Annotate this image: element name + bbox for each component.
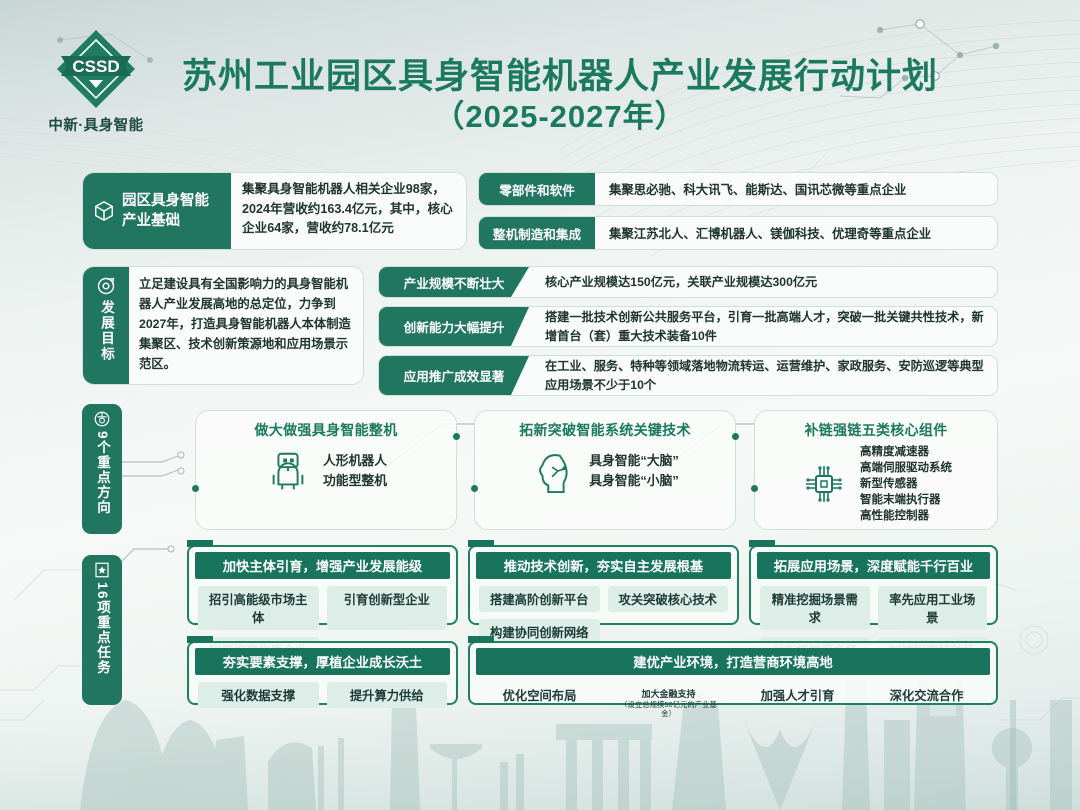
task-card-factors: 夯实要素支撑，厚植企业成长沃土 强化数据支撑 提升算力供给 — [187, 641, 458, 705]
task-chip[interactable]: 加大金融支持 （设立总规模50亿元的产业基金） — [608, 682, 729, 723]
goals-rows: 产业规模不断壮大 核心产业规模达150亿元，关联产业规模达300亿元 创新能力大… — [378, 266, 998, 404]
goal-row-application: 应用推广成效显著 在工业、服务、特种等领域落地物流转运、运营维护、家政服务、安防… — [378, 355, 998, 396]
goal-row-label: 产业规模不断壮大 — [379, 267, 529, 297]
connector-dot — [471, 485, 478, 492]
cube-icon — [93, 200, 115, 222]
goal-row-label: 创新能力大幅提升 — [379, 307, 529, 346]
connector-dot — [192, 485, 199, 492]
connector-dot — [751, 485, 758, 492]
industry-base-rows: 零部件和软件 集聚思必驰、科大讯飞、能斯达、国讯芯微等重点企业 整机制造和集成 … — [478, 172, 998, 260]
goals-summary-text: 立足建设具有全国影响力的具身智能机器人产业发展高地的总定位，力争到2027年，打… — [129, 267, 363, 384]
task-card-scenarios: 拓展应用场景，深度赋能千行百业 精准挖掘场景需求 率先应用工业场景 创新拓展服务… — [749, 545, 998, 625]
industry-row-value: 集聚思必驰、科大讯飞、能斯达、国讯芯微等重点企业 — [595, 173, 997, 205]
task-chip[interactable]: 加强人才引育 — [737, 682, 858, 723]
task-chip[interactable]: 强化数据支撑 — [198, 682, 319, 708]
task-chip[interactable]: 搭建高阶创新平台 — [479, 586, 600, 612]
direction-card-core-components: 补链强链五类核心组件 高精度减速器 高端伺服驱动系统 新型传感器 — [754, 410, 998, 530]
task-card-technology: 推动技术创新，夯实自主发展根基 搭建高阶创新平台 攻关突破核心技术 构建协同创新… — [468, 545, 739, 625]
logo-diamond-icon: CSSD — [53, 26, 139, 112]
goal-row-value: 核心产业规模达150亿元，关联产业规模达300亿元 — [529, 267, 997, 297]
page-header: CSSD 中新·具身智能 苏州工业园区具身智能机器人产业发展行动计划 （2025… — [0, 0, 1080, 160]
goals-badge: 发展目标 — [83, 267, 129, 384]
direction-card-title: 补链强链五类核心组件 — [755, 420, 997, 440]
goal-row-value: 在工业、服务、特种等领域落地物流转运、运营维护、家政服务、安防巡逻等典型应用场景… — [529, 356, 997, 395]
task-chip[interactable]: 招引高能级市场主体 — [198, 586, 319, 630]
connector-dot — [732, 433, 739, 440]
industry-row-value: 集聚江苏北人、汇博机器人、镁伽科技、优理奇等重点企业 — [595, 217, 997, 249]
task-card-title: 推动技术创新，夯实自主发展根基 — [476, 552, 731, 579]
section-sixteen-tasks: 16项重点任务 加快主体引育，增强产业发展能级 招引高能级市场主体 引育创新型企… — [82, 545, 998, 713]
robot-icon — [265, 448, 311, 494]
task-card-title: 拓展应用场景，深度赋能千行百业 — [757, 552, 990, 579]
direction-card-items: 人形机器人 功能型整机 — [323, 451, 387, 491]
goals-summary-card: 发展目标 立足建设具有全国影响力的具身智能机器人产业发展高地的总定位，力争到20… — [82, 266, 364, 385]
task-chip[interactable]: 精准挖掘场景需求 — [760, 586, 870, 630]
task-chip-label: 优化空间布局 — [503, 689, 577, 703]
task-card-environment: 建优产业环境，打造营商环境高地 优化空间布局 加大金融支持 （设立总规模50亿元… — [468, 641, 998, 705]
direction-card-items: 具身智能“大脑” 具身智能“小脑” — [589, 451, 679, 491]
direction-card-title: 做大做强具身智能整机 — [196, 420, 456, 440]
task-card-title: 加快主体引育，增强产业发展能级 — [195, 552, 450, 579]
task-chip[interactable]: 引育创新型企业 — [327, 586, 448, 630]
task-chip[interactable]: 提升算力供给 — [327, 682, 448, 708]
goal-row-value: 搭建一批技术创新公共服务平台，引育一批高端人才，突破一批关键共性技术，新增首台（… — [529, 307, 997, 346]
tasks-badge-label: 16项重点任务 — [92, 582, 112, 675]
title-block: 苏州工业园区具身智能机器人产业发展行动计划 （2025-2027年） — [160, 56, 960, 138]
industry-row-assembly: 整机制造和集成 集聚江苏北人、汇博机器人、镁伽科技、优理奇等重点企业 — [478, 216, 998, 250]
task-chip[interactable]: 率先应用工业场景 — [878, 586, 988, 630]
logo-text: CSSD — [72, 57, 119, 76]
connector-dot — [453, 433, 460, 440]
industry-base-text: 集聚具身智能机器人相关企业98家，2024年营收约163.4亿元，其中，核心企业… — [231, 173, 466, 249]
industry-base-badge-label: 园区具身智能 产业基础 — [122, 191, 209, 231]
task-card-title: 建优产业环境，打造营商环境高地 — [476, 648, 990, 675]
task-chip-label: 加强人才引育 — [761, 689, 835, 703]
task-card-title: 夯实要素支撑，厚植企业成长沃土 — [195, 648, 450, 675]
target-icon — [96, 276, 116, 296]
logo-subtitle: 中新·具身智能 — [48, 114, 143, 135]
brain-chip-icon — [531, 448, 577, 494]
section-development-goals: 发展目标 立足建设具有全国影响力的具身智能机器人产业发展高地的总定位，力争到20… — [82, 266, 998, 388]
star-flag-icon — [93, 561, 111, 579]
logo: CSSD 中新·具身智能 — [34, 26, 158, 146]
task-chip[interactable]: 深化交流合作 — [866, 682, 987, 723]
page-subtitle: （2025-2027年） — [160, 97, 960, 137]
section-industry-base: 园区具身智能 产业基础 集聚具身智能机器人相关企业98家，2024年营收约163… — [82, 172, 998, 250]
compass-icon — [93, 410, 111, 428]
direction-card-title: 拓新突破智能系统关键技术 — [475, 420, 735, 440]
task-chip-sublabel: （设立总规模50亿元的产业基金） — [617, 700, 720, 719]
task-chip-label: 深化交流合作 — [890, 689, 964, 703]
industry-base-card: 园区具身智能 产业基础 集聚具身智能机器人相关企业98家，2024年营收约163… — [82, 172, 467, 250]
task-card-entities: 加快主体引育，增强产业发展能级 招引高能级市场主体 引育创新型企业 梯度培育优质… — [187, 545, 458, 625]
goals-badge-label: 发展目标 — [96, 300, 116, 362]
industry-row-label: 零部件和软件 — [479, 173, 595, 205]
directions-badge-label: 9个重点方向 — [92, 431, 112, 515]
page-title: 苏州工业园区具身智能机器人产业发展行动计划 — [160, 56, 960, 97]
industry-row-label: 整机制造和集成 — [479, 217, 595, 249]
directions-badge: 9个重点方向 — [82, 404, 122, 534]
task-chip[interactable]: 优化空间布局 — [479, 682, 600, 723]
task-chip-label: 加大金融支持 — [641, 689, 695, 699]
industry-base-badge: 园区具身智能 产业基础 — [83, 173, 231, 249]
direction-card-whole-machine: 做大做强具身智能整机 人形机器人 功能型整机 — [195, 410, 457, 530]
direction-card-key-tech: 拓新突破智能系统关键技术 具身智能“大脑” 具身智能“小脑” — [474, 410, 736, 530]
goal-row-label: 应用推广成效显著 — [379, 356, 529, 395]
industry-row-components: 零部件和软件 集聚思必驰、科大讯飞、能斯达、国讯芯微等重点企业 — [478, 172, 998, 206]
task-chip[interactable]: 攻关突破核心技术 — [608, 586, 729, 612]
tasks-badge: 16项重点任务 — [82, 555, 122, 705]
direction-card-items: 高精度减速器 高端伺服驱动系统 新型传感器 智能末端执行器 高性能控制器 — [860, 444, 952, 524]
goal-row-innovation: 创新能力大幅提升 搭建一批技术创新公共服务平台，引育一批高端人才，突破一批关键共… — [378, 306, 998, 347]
goal-row-scale: 产业规模不断壮大 核心产业规模达150亿元，关联产业规模达300亿元 — [378, 266, 998, 298]
chip-icon — [800, 460, 848, 508]
section-nine-directions: 9个重点方向 做大做强具身智能整机 人形机器人 功能型整机 拓新突破智能系统关键… — [82, 404, 998, 536]
